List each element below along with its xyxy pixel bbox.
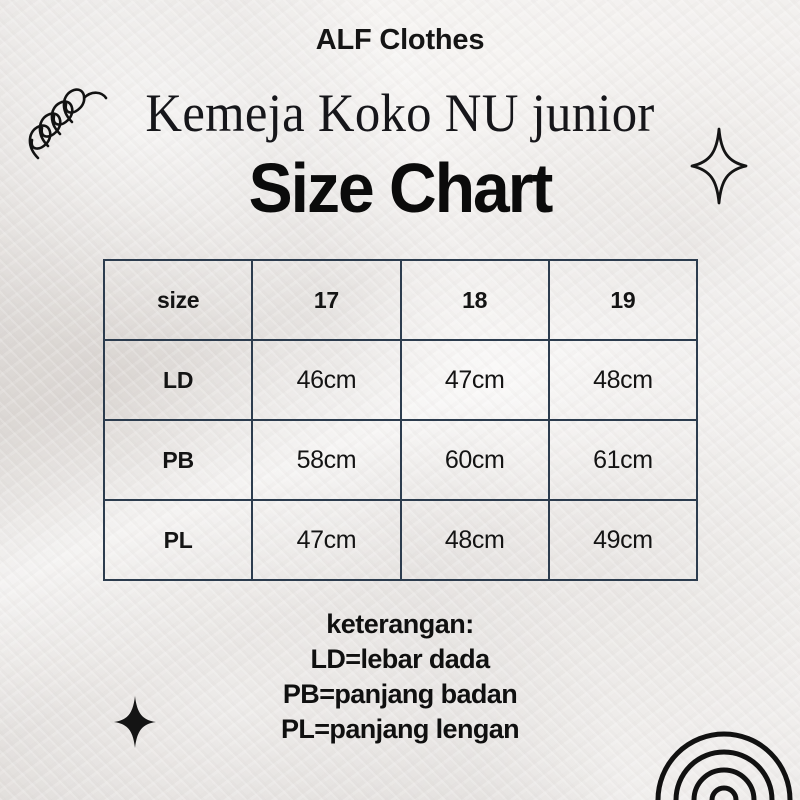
- cell-ld-17: 46cm: [252, 340, 400, 420]
- row-label-ld: LD: [104, 340, 252, 420]
- legend-line-ld: LD=lebar dada: [0, 642, 800, 677]
- row-label-pb: PB: [104, 420, 252, 500]
- column-header-size-19: 19: [549, 260, 697, 340]
- legend-title: keterangan:: [0, 607, 800, 642]
- cell-pl-19: 49cm: [549, 500, 697, 580]
- cell-pb-18: 60cm: [401, 420, 549, 500]
- column-header-size-18: 18: [401, 260, 549, 340]
- cell-ld-18: 47cm: [401, 340, 549, 420]
- cell-ld-19: 48cm: [549, 340, 697, 420]
- legend-block: keterangan: LD=lebar dada PB=panjang bad…: [0, 607, 800, 747]
- table-header-row: size 17 18 19: [104, 260, 697, 340]
- legend-line-pl: PL=panjang lengan: [0, 712, 800, 747]
- page-title: Size Chart: [0, 148, 800, 228]
- legend-line-pb: PB=panjang badan: [0, 677, 800, 712]
- size-chart-table: size 17 18 19 LD 46cm 47cm 48cm PB 58cm …: [103, 259, 698, 581]
- column-header-size-17: 17: [252, 260, 400, 340]
- cell-pb-19: 61cm: [549, 420, 697, 500]
- cell-pb-17: 58cm: [252, 420, 400, 500]
- product-subtitle: Kemeja Koko NU junior: [24, 82, 776, 144]
- size-chart-poster: ALF Clothes Kemeja Koko NU junior Size C…: [0, 0, 800, 800]
- table-row: LD 46cm 47cm 48cm: [104, 340, 697, 420]
- table-row: PL 47cm 48cm 49cm: [104, 500, 697, 580]
- row-label-pl: PL: [104, 500, 252, 580]
- brand-title: ALF Clothes: [0, 24, 800, 57]
- cell-pl-17: 47cm: [252, 500, 400, 580]
- column-header-size: size: [104, 260, 252, 340]
- table-row: PB 58cm 60cm 61cm: [104, 420, 697, 500]
- cell-pl-18: 48cm: [401, 500, 549, 580]
